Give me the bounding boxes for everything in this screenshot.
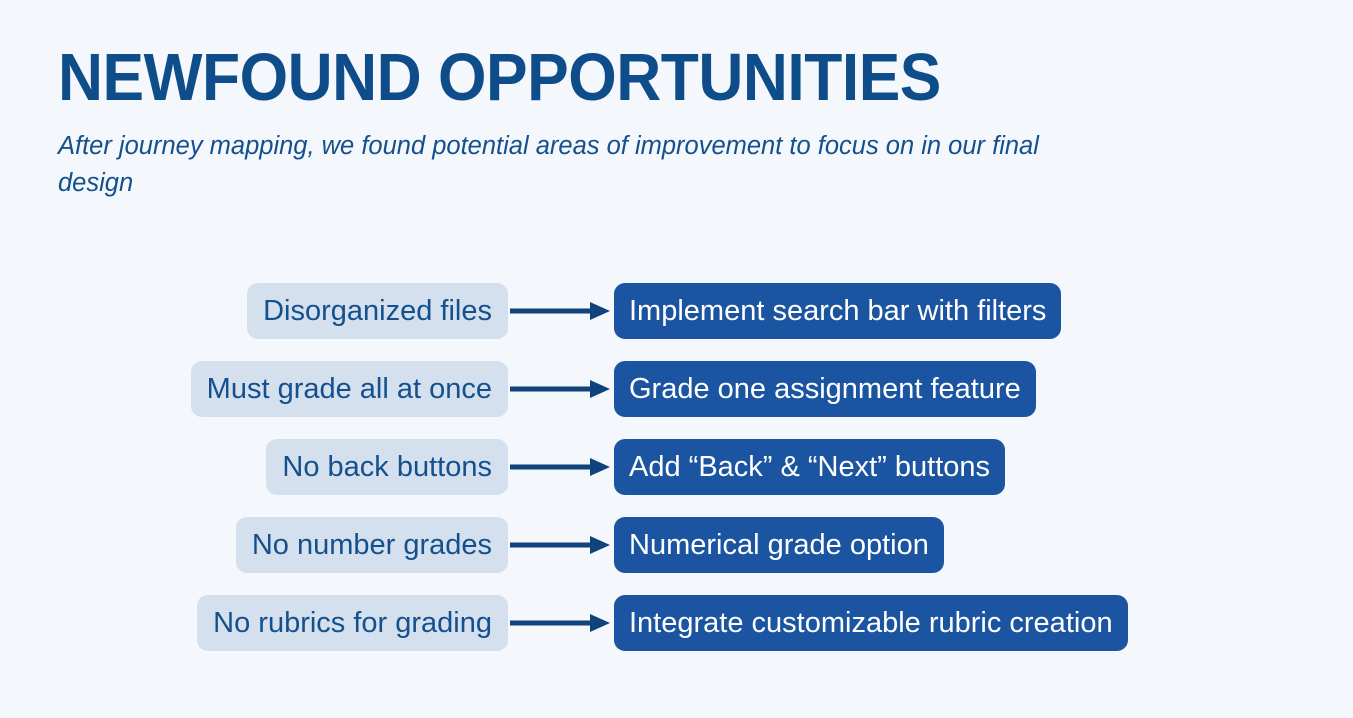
solution-pill: Implement search bar with filters (614, 283, 1061, 339)
arrow-right-icon (510, 534, 610, 556)
slide-header: NEWFOUND OPPORTUNITIES After journey map… (58, 44, 1298, 201)
solution-cell: Numerical grade option (614, 517, 944, 573)
problem-cell: Must grade all at once (0, 361, 508, 417)
problem-pill: Must grade all at once (191, 361, 508, 417)
problem-cell: Disorganized files (0, 283, 508, 339)
diagram-row: Must grade all at once Grade one assignm… (0, 350, 1353, 428)
arrow-right-icon (510, 612, 610, 634)
arrow-right-icon (510, 378, 610, 400)
arrow-right-icon (510, 456, 610, 478)
diagram-row: No number grades Numerical grade option (0, 506, 1353, 584)
problem-cell: No back buttons (0, 439, 508, 495)
diagram-row: No rubrics for grading Integrate customi… (0, 584, 1353, 662)
arrow-cell (508, 534, 614, 556)
solution-cell: Add “Back” & “Next” buttons (614, 439, 1005, 495)
problem-pill: No back buttons (266, 439, 508, 495)
arrow-cell (508, 378, 614, 400)
diagram-row: No back buttons Add “Back” & “Next” butt… (0, 428, 1353, 506)
solution-pill: Integrate customizable rubric creation (614, 595, 1128, 651)
page-title: NEWFOUND OPPORTUNITIES (58, 44, 1211, 111)
problem-pill: No rubrics for grading (197, 595, 508, 651)
arrow-right-icon (510, 300, 610, 322)
arrow-cell (508, 300, 614, 322)
diagram-row: Disorganized files Implement search bar … (0, 272, 1353, 350)
solution-cell: Grade one assignment feature (614, 361, 1036, 417)
solution-cell: Integrate customizable rubric creation (614, 595, 1128, 651)
problem-pill: Disorganized files (247, 283, 508, 339)
problem-cell: No rubrics for grading (0, 595, 508, 651)
arrow-cell (508, 612, 614, 634)
page-subtitle: After journey mapping, we found potentia… (58, 128, 1058, 201)
slide: NEWFOUND OPPORTUNITIES After journey map… (0, 0, 1353, 718)
problem-cell: No number grades (0, 517, 508, 573)
opportunities-diagram: Disorganized files Implement search bar … (0, 272, 1353, 662)
solution-pill: Grade one assignment feature (614, 361, 1036, 417)
problem-pill: No number grades (236, 517, 508, 573)
solution-pill: Numerical grade option (614, 517, 944, 573)
arrow-cell (508, 456, 614, 478)
solution-pill: Add “Back” & “Next” buttons (614, 439, 1005, 495)
solution-cell: Implement search bar with filters (614, 283, 1061, 339)
